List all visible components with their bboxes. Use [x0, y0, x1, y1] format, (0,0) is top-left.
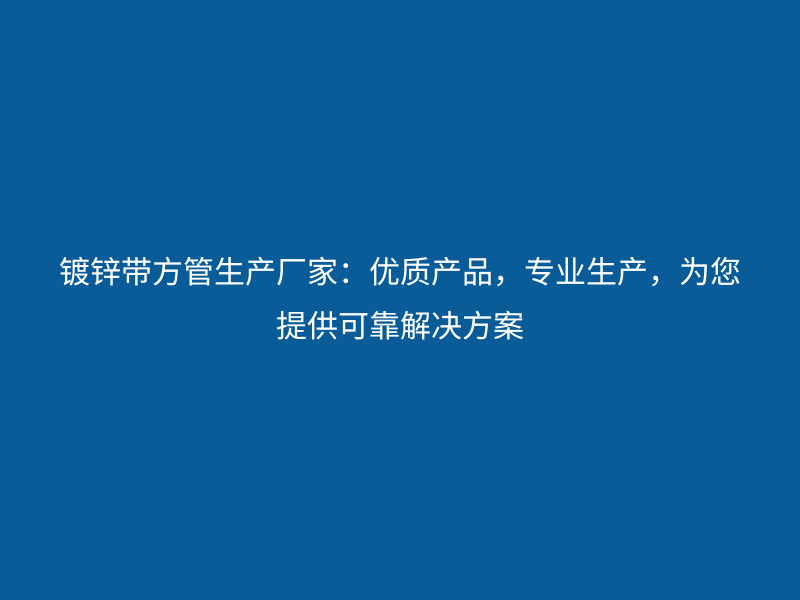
page-title: 镀锌带方管生产厂家：优质产品，专业生产，为您提供可靠解决方案: [50, 246, 750, 354]
headline-block: 镀锌带方管生产厂家：优质产品，专业生产，为您提供可靠解决方案: [50, 225, 750, 375]
title-card: 镀锌带方管生产厂家：优质产品，专业生产，为您提供可靠解决方案: [0, 0, 800, 600]
